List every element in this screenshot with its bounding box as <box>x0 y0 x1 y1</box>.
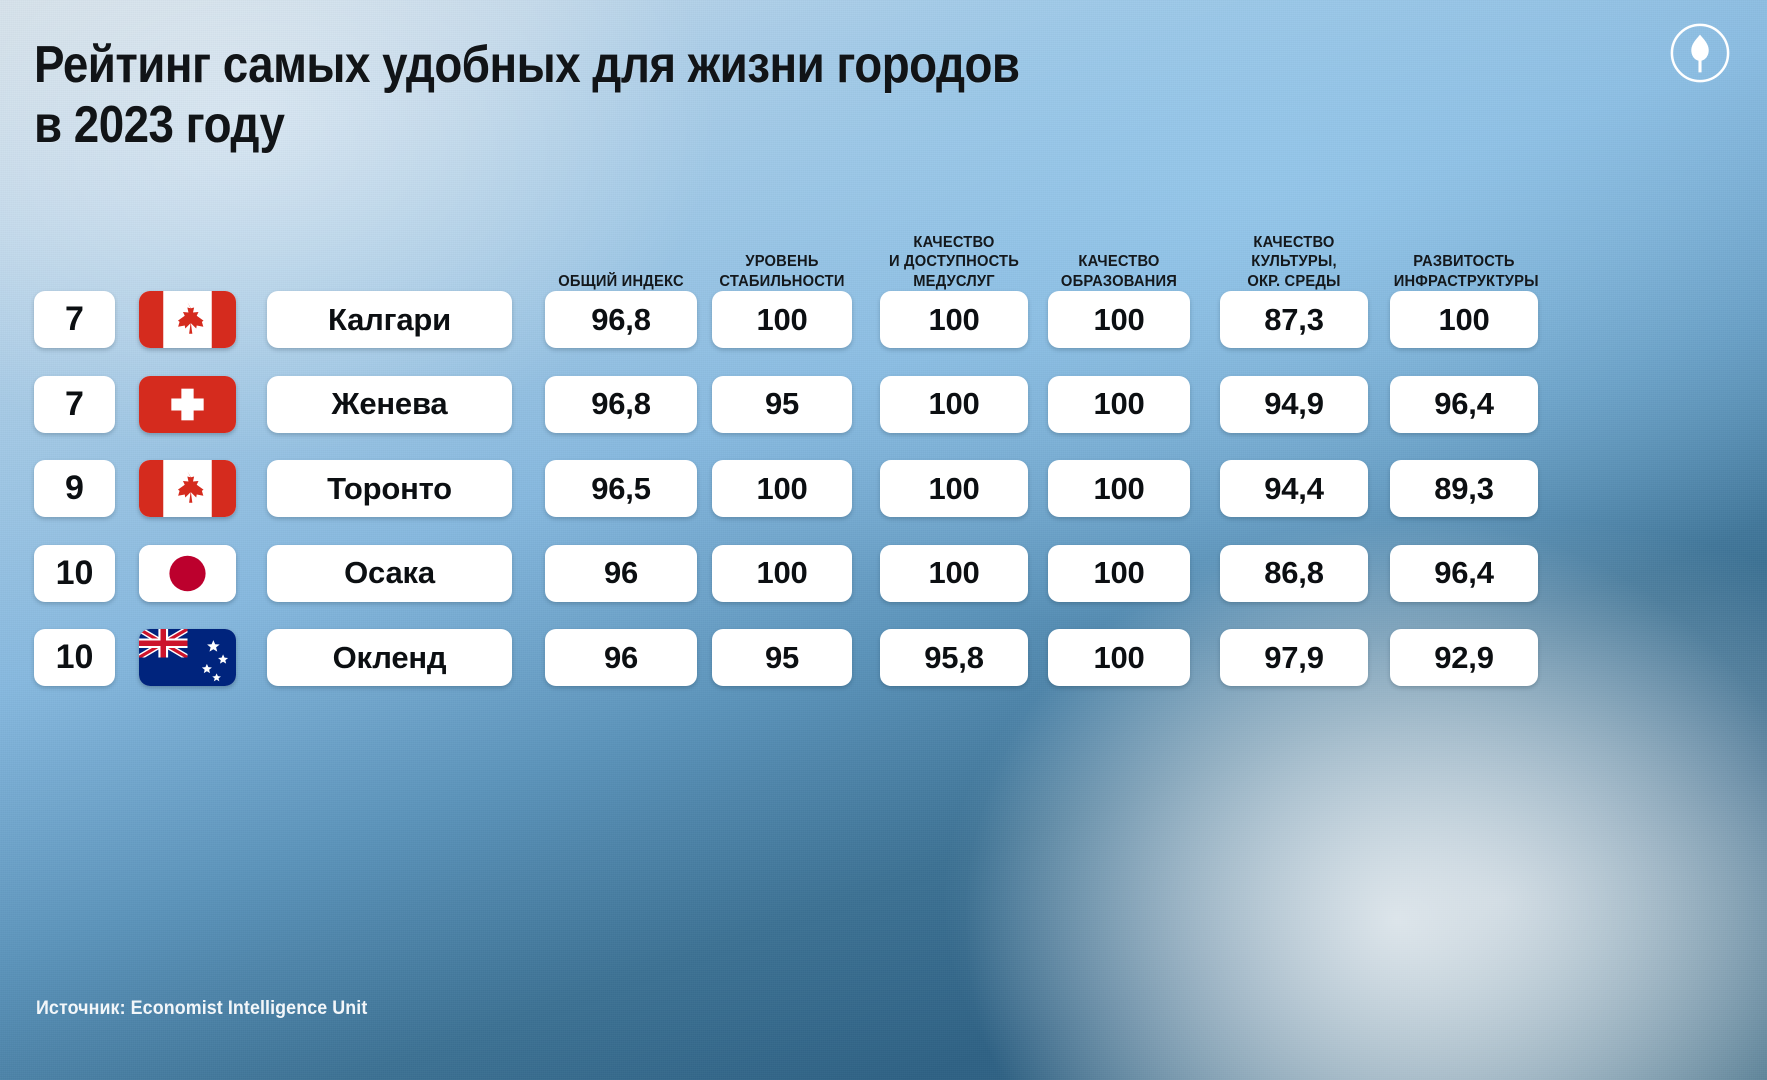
value-education: 100 <box>1048 376 1190 433</box>
value-overall: 96 <box>545 629 697 686</box>
value-culture_env: 97,9 <box>1220 629 1368 686</box>
rank-badge: 10 <box>34 545 115 602</box>
flag-canada-icon <box>139 460 236 517</box>
value-overall: 96,5 <box>545 460 697 517</box>
rank-badge: 7 <box>34 376 115 433</box>
value-culture_env: 87,3 <box>1220 291 1368 348</box>
table-row: 10Осака9610010010086,896,4 <box>0 545 1767 630</box>
value-culture_env: 94,9 <box>1220 376 1368 433</box>
column-header-stability: УРОВЕНЬ СТАБИЛЬНОСТИ <box>716 252 849 292</box>
value-stability: 95 <box>712 629 852 686</box>
value-education: 100 <box>1048 460 1190 517</box>
value-culture_env: 94,4 <box>1220 460 1368 517</box>
city-name: Калгари <box>267 291 512 348</box>
rank-badge: 9 <box>34 460 115 517</box>
value-education: 100 <box>1048 629 1190 686</box>
value-healthcare: 100 <box>880 460 1028 517</box>
ranking-rows: 7Калгари96,810010010087,31007Женева96,89… <box>0 291 1767 714</box>
value-overall: 96,8 <box>545 291 697 348</box>
column-header-healthcare: КАЧЕСТВО И ДОСТУПНОСТЬ МЕДУСЛУГ <box>884 233 1025 292</box>
value-healthcare: 100 <box>880 291 1028 348</box>
table-row: 9Торонто96,510010010094,489,3 <box>0 460 1767 545</box>
value-culture_env: 86,8 <box>1220 545 1368 602</box>
value-overall: 96,8 <box>545 376 697 433</box>
value-infrastructure: 100 <box>1390 291 1538 348</box>
value-stability: 100 <box>712 460 852 517</box>
infographic-root: Рейтинг самых удобных для жизни городов … <box>0 0 1767 1080</box>
table-row: 7Женева96,89510010094,996,4 <box>0 376 1767 461</box>
city-name: Осака <box>267 545 512 602</box>
value-education: 100 <box>1048 545 1190 602</box>
value-healthcare: 100 <box>880 376 1028 433</box>
rank-badge: 7 <box>34 291 115 348</box>
table-row: 7Калгари96,810010010087,3100 <box>0 291 1767 376</box>
column-header-culture_env: КАЧЕСТВО КУЛЬТУРЫ, ОКР. СРЕДЫ <box>1224 233 1365 292</box>
value-stability: 100 <box>712 291 852 348</box>
flag-japan-icon <box>139 545 236 602</box>
value-infrastructure: 96,4 <box>1390 545 1538 602</box>
city-name: Женева <box>267 376 512 433</box>
column-headers: ОБЩИЙ ИНДЕКСУРОВЕНЬ СТАБИЛЬНОСТИКАЧЕСТВО… <box>0 200 1767 292</box>
column-header-overall: ОБЩИЙ ИНДЕКС <box>549 272 693 292</box>
city-name: Торонто <box>267 460 512 517</box>
kommersant-logo-icon <box>1669 22 1731 84</box>
value-healthcare: 100 <box>880 545 1028 602</box>
value-infrastructure: 89,3 <box>1390 460 1538 517</box>
value-stability: 95 <box>712 376 852 433</box>
value-stability: 100 <box>712 545 852 602</box>
column-header-infrastructure: РАЗВИТОСТЬ ИНФРАСТРУКТУРЫ <box>1394 252 1535 292</box>
value-infrastructure: 92,9 <box>1390 629 1538 686</box>
value-healthcare: 95,8 <box>880 629 1028 686</box>
value-infrastructure: 96,4 <box>1390 376 1538 433</box>
rank-badge: 10 <box>34 629 115 686</box>
flag-canada-icon <box>139 291 236 348</box>
flag-new-zealand-icon <box>139 629 236 686</box>
value-overall: 96 <box>545 545 697 602</box>
value-education: 100 <box>1048 291 1190 348</box>
table-row: 10Окленд969595,810097,992,9 <box>0 629 1767 714</box>
page-title: Рейтинг самых удобных для жизни городов … <box>34 36 1020 156</box>
flag-switzerland-icon <box>139 376 236 433</box>
column-header-education: КАЧЕСТВО ОБРАЗОВАНИЯ <box>1052 252 1187 292</box>
city-name: Окленд <box>267 629 512 686</box>
source-note: Источник: Economist Intelligence Unit <box>36 998 367 1020</box>
